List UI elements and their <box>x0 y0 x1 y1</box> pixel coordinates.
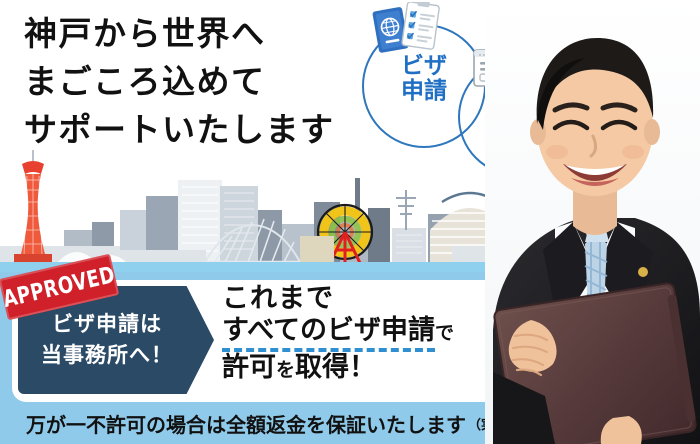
result-message-line-2-suffix: で <box>435 322 454 344</box>
businessman-photo <box>485 0 700 444</box>
result-message-line-2-main: すべてのビザ申請 <box>222 315 435 352</box>
visa-service-banner: 神戸から世界へ まごころ込めて サポートいたします ビザ 申請 在留 資格 <box>0 0 700 444</box>
result-message-line-3-main2: 取得 <box>295 352 349 383</box>
headline: 神戸から世界へ まごころ込めて サポートいたします <box>24 10 424 154</box>
headline-line-1: 神戸から世界へ <box>24 10 424 58</box>
result-message: これまで すべてのビザ申請で 許可を取得！ <box>222 283 522 384</box>
headline-line-3: サポートいたします <box>24 106 424 154</box>
headline-line-2: まごころ込めて <box>24 58 424 106</box>
guarantee-strip: 万が一不許可の場合は全額返金を保証いたします （実費等は除きます） <box>0 406 560 440</box>
result-message-line-3-mark: ！ <box>349 352 376 383</box>
arrow-callout-line-2: 当事務所へ！ <box>41 340 191 372</box>
result-message-line-3-main: 許可 <box>222 352 276 383</box>
guarantee-main-text: 万が一不許可の場合は全額返金を保証いたします <box>26 409 466 438</box>
result-message-line-1: これまで <box>222 283 522 315</box>
result-message-line-3-particle: を <box>276 359 295 381</box>
arrow-callout-line-1: ビザ申請は <box>52 309 180 341</box>
